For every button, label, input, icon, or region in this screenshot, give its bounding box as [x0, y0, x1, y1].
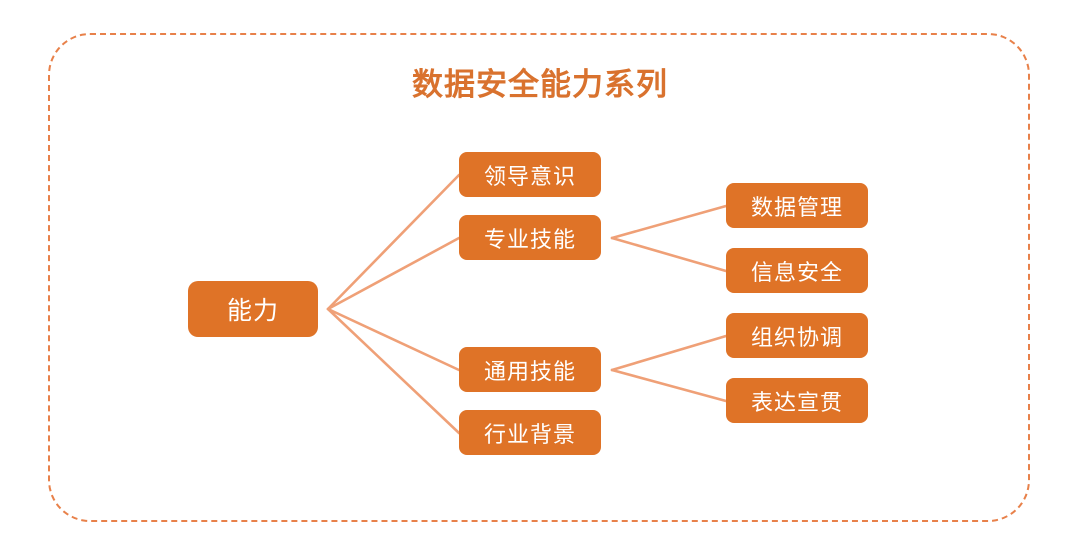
node-lingdaoyishi[interactable]: 领导意识 [459, 152, 601, 197]
node-label: 专业技能 [484, 222, 576, 254]
node-label: 组织协调 [751, 320, 843, 352]
node-label: 能力 [227, 291, 279, 327]
node-label: 通用技能 [484, 354, 576, 386]
node-label: 表达宣贯 [751, 385, 843, 417]
diagram-canvas: 数据安全能力系列 能力 领导意识 专业技能 通用技能 行业背景 数据管理 [0, 0, 1080, 547]
node-shujuguanli[interactable]: 数据管理 [726, 183, 868, 228]
node-root-nengli[interactable]: 能力 [188, 281, 318, 337]
node-tongyongjineng[interactable]: 通用技能 [459, 347, 601, 392]
page-title: 数据安全能力系列 [0, 63, 1080, 107]
node-label: 数据管理 [751, 190, 843, 222]
node-hangyebeijing[interactable]: 行业背景 [459, 410, 601, 455]
node-biaodaxuanguan[interactable]: 表达宣贯 [726, 378, 868, 423]
node-zuzhixietiao[interactable]: 组织协调 [726, 313, 868, 358]
node-label: 领导意识 [484, 159, 576, 191]
node-label: 信息安全 [751, 255, 843, 287]
node-zhuanyejineng[interactable]: 专业技能 [459, 215, 601, 260]
node-xinxianquan[interactable]: 信息安全 [726, 248, 868, 293]
node-label: 行业背景 [484, 417, 576, 449]
